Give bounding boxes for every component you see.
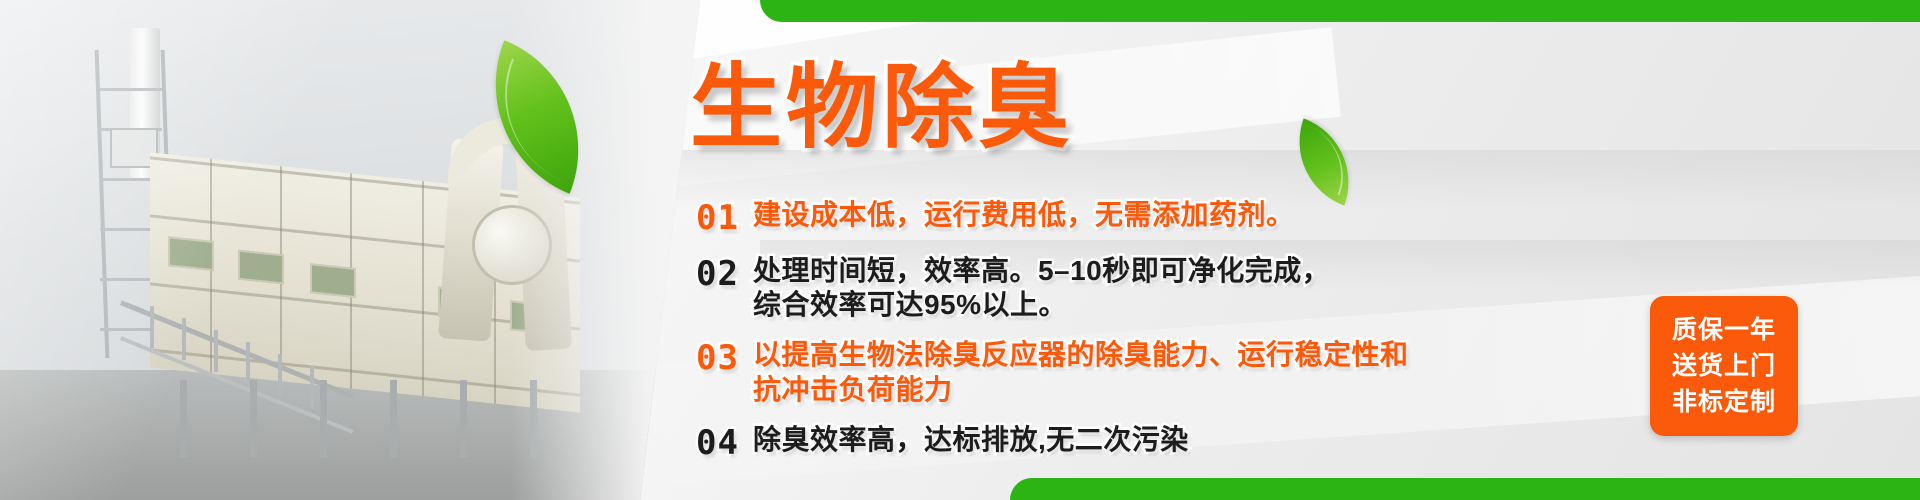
feature-text-line1: 建设成本低，运行费用低，无需添加药剂。 (753, 199, 1295, 230)
feature-text: 以提高生物法除臭反应器的除臭能力、运行稳定性和 抗冲击负荷能力 (753, 338, 1409, 406)
equipment-photo (0, 0, 700, 500)
badge-line-2: 送货上门 (1672, 348, 1776, 384)
feature-text-line2: 综合效率可达95%以上。 (753, 288, 1330, 322)
badge-line-3: 非标定制 (1672, 384, 1776, 420)
feature-text: 除臭效率高，达标排放,无二次污染 (753, 423, 1189, 457)
feature-text: 建设成本低，运行费用低，无需添加药剂。 (753, 198, 1295, 232)
feature-item-04: 04 除臭效率高，达标排放,无二次污染 (696, 423, 1636, 463)
feature-item-01: 01 建设成本低，运行费用低，无需添加药剂。 (696, 198, 1636, 238)
feature-text-line1: 以提高生物法除臭反应器的除臭能力、运行稳定性和 (753, 339, 1409, 370)
feature-list: 01 建设成本低，运行费用低，无需添加药剂。 02 处理时间短，效率高。5–10… (696, 198, 1636, 479)
feature-number: 01 (696, 198, 739, 238)
feature-number: 02 (696, 254, 739, 294)
service-guarantee-badge: 质保一年 送货上门 非标定制 (1650, 296, 1798, 436)
promo-banner: 生物除臭 01 建设成本低，运行费用低，无需添加药剂。 02 处理时间短，效率高… (0, 0, 1920, 500)
page-title: 生物除臭 (690, 62, 1074, 154)
feature-item-03: 03 以提高生物法除臭反应器的除臭能力、运行稳定性和 抗冲击负荷能力 (696, 338, 1636, 406)
feature-text-line2: 抗冲击负荷能力 (753, 373, 1409, 407)
feature-text-line1: 除臭效率高，达标排放,无二次污染 (753, 424, 1189, 455)
badge-line-1: 质保一年 (1672, 312, 1776, 348)
feature-number: 04 (696, 423, 739, 463)
feature-text: 处理时间短，效率高。5–10秒即可净化完成， 综合效率可达95%以上。 (753, 254, 1330, 322)
feature-item-02: 02 处理时间短，效率高。5–10秒即可净化完成， 综合效率可达95%以上。 (696, 254, 1636, 322)
feature-number: 03 (696, 338, 739, 378)
feature-text-line1: 处理时间短，效率高。5–10秒即可净化完成， (753, 255, 1330, 286)
banner-content: 生物除臭 01 建设成本低，运行费用低，无需添加药剂。 02 处理时间短，效率高… (690, 0, 1690, 500)
